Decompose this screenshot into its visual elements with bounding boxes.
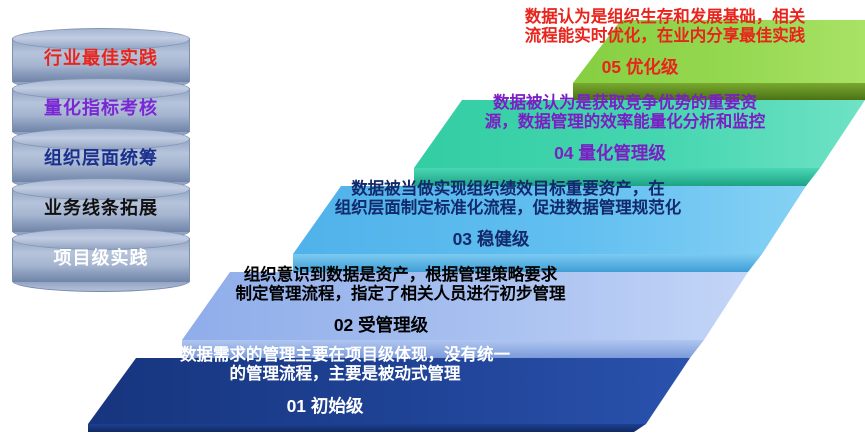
cylinder-label: 量化指标考核 <box>12 94 190 120</box>
step-01-description: 数据需求的管理主要在项目级体现，没有统一 的管理流程，主要是被动式管理 <box>120 346 570 385</box>
cylinder-label: 组织层面统筹 <box>12 144 190 170</box>
step-02-name: 02 受管理级 <box>166 315 596 336</box>
step-03-description: 数据被当做实现组织绩效目标重要资产，在 组织层面制定标准化流程，促进数据管理规范… <box>288 180 728 219</box>
step-03-name: 03 稳健级 <box>276 229 706 250</box>
step-01-name: 01 初始级 <box>110 396 540 417</box>
step-04-description: 数据被认为是获取竞争优势的重要资 源，数据管理的效率能量化分析和监控 <box>410 94 840 133</box>
step-05-name: 05 优化级 <box>470 57 810 78</box>
cylinder-label: 行业最佳实践 <box>12 44 190 70</box>
step-05-description: 数据认为是组织生存和发展基础，相关 流程能实时优化，在业内分享最佳实践 <box>470 8 860 47</box>
cylinder-label: 业务线条拓展 <box>12 194 190 220</box>
diagram-canvas: 行业最佳实践 量化指标考核 组织层面统筹 业务线条拓展 项目级实践 <box>0 0 865 440</box>
step-01-front-face <box>88 424 646 432</box>
step-02-description: 组织意识到数据是资产，根据管理策略要求 制定管理流程，指定了相关人员进行初步管理 <box>178 266 623 305</box>
cylinder-label: 项目级实践 <box>12 244 190 270</box>
step-04-name: 04 量化管理级 <box>400 143 820 164</box>
